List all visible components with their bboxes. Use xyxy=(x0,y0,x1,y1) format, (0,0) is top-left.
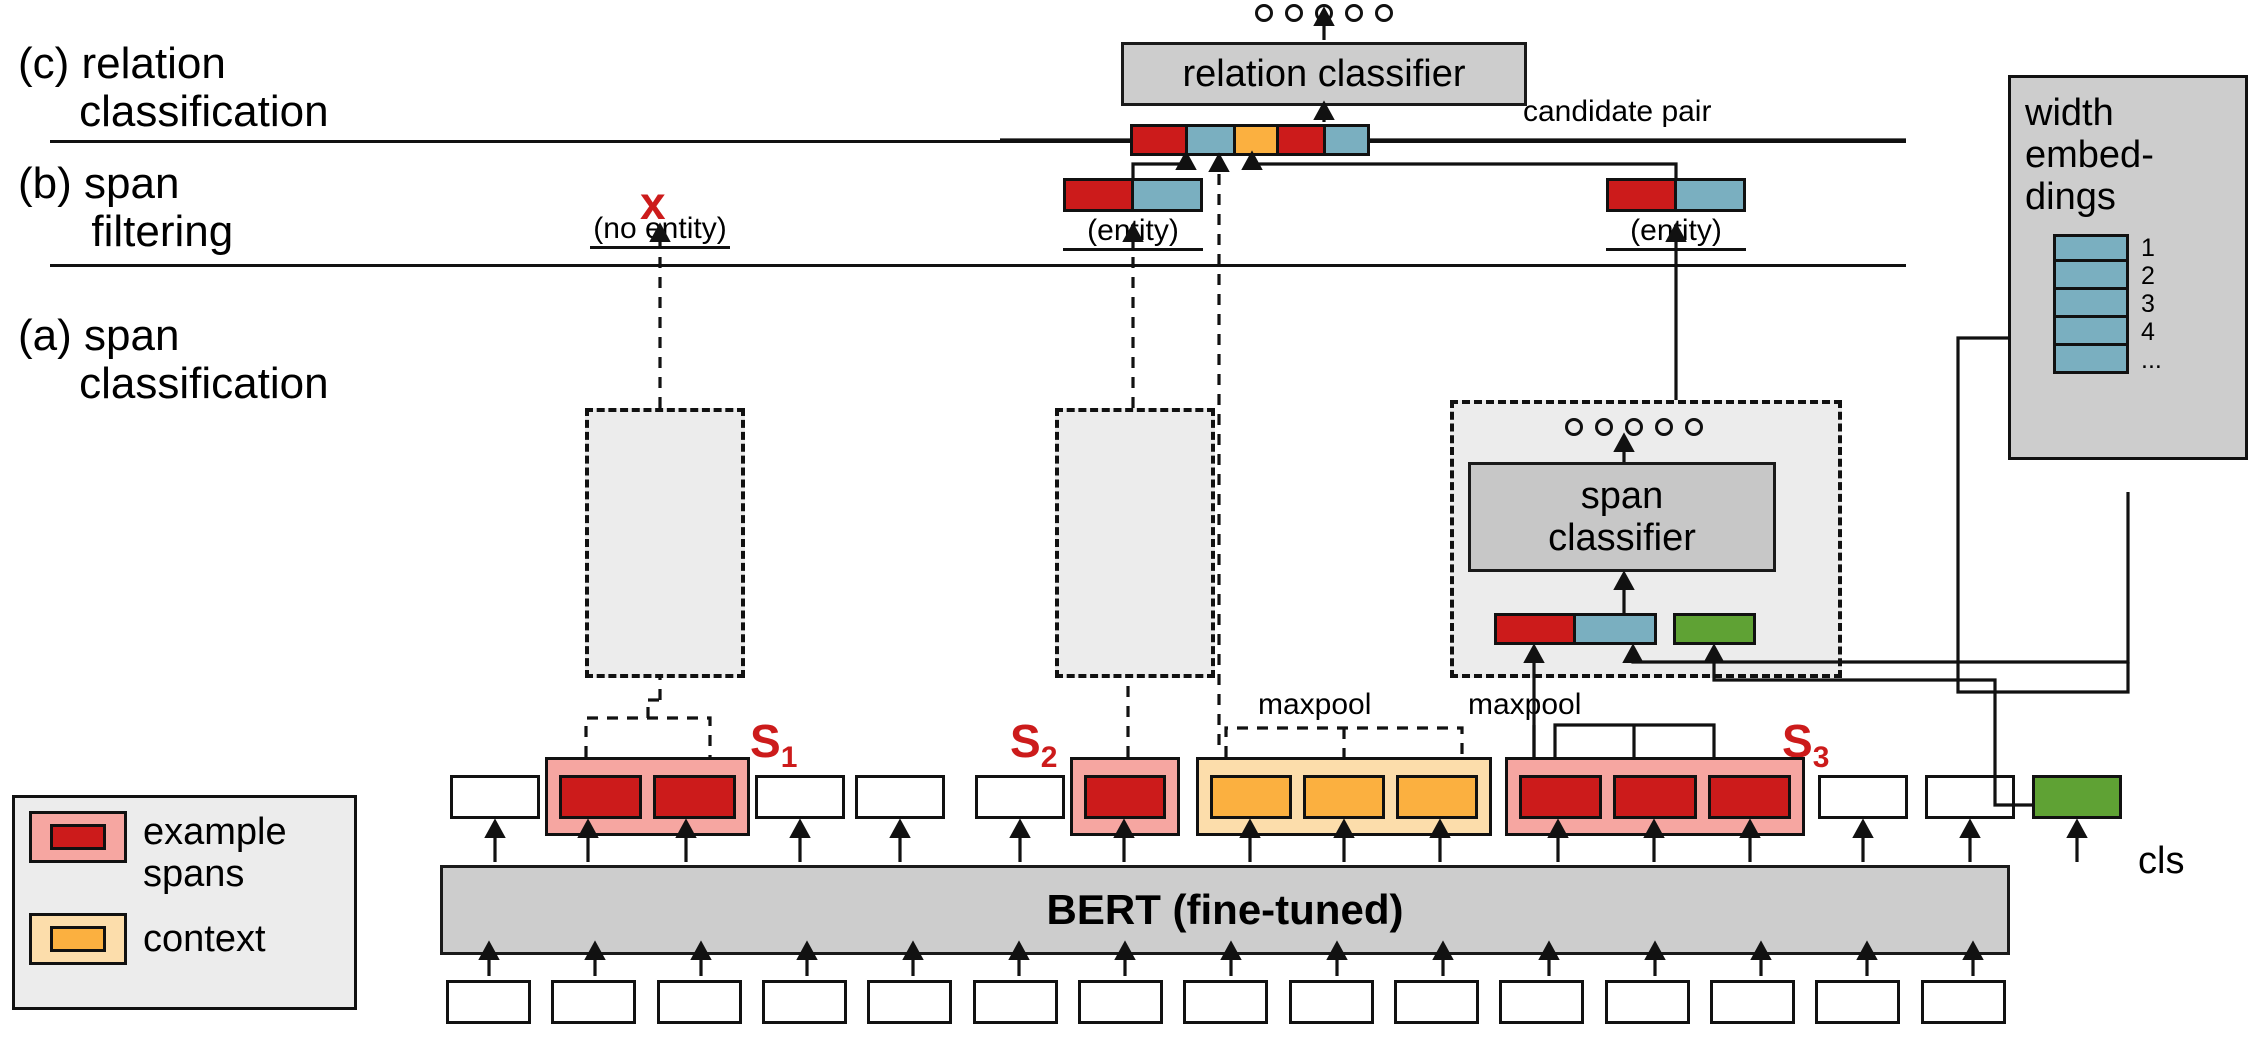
output-circle xyxy=(1345,4,1363,22)
span-input-cell-cls xyxy=(1676,616,1753,642)
bert-encoder-box[interactable]: BERT (fine-tuned) xyxy=(440,865,2010,955)
span-label-s2: S2 xyxy=(1010,718,1057,781)
legend-swatch-context xyxy=(29,913,127,965)
legend-label-example-spans-line1: example xyxy=(143,811,287,853)
span-classifier-box[interactable]: span classifier xyxy=(1468,462,1776,572)
token-lower-13[interactable] xyxy=(1710,980,1795,1024)
legend-box: example spans context xyxy=(12,795,357,1010)
candidate-pair-vector[interactable] xyxy=(1130,124,1370,156)
span-label-s1: S1 xyxy=(750,718,797,781)
token-lower-2[interactable] xyxy=(551,980,636,1024)
width-embeddings-title-line2: embed- xyxy=(2025,134,2245,176)
width-embeddings-title-line3: dings xyxy=(2025,176,2245,218)
collapsed-span-classifier-1[interactable] xyxy=(585,408,745,678)
width-embedding-index: 1 xyxy=(2141,234,2162,262)
bert-label: BERT (fine-tuned) xyxy=(1047,886,1404,934)
token-lower-7[interactable] xyxy=(1078,980,1163,1024)
token-lower-6[interactable] xyxy=(973,980,1058,1024)
width-embedding-cell[interactable] xyxy=(2053,234,2129,262)
divider-relation-span xyxy=(50,140,1906,143)
candidate-pair-cell-tail-width xyxy=(1326,127,1367,153)
token-row-lower xyxy=(446,980,2006,1024)
output-circle xyxy=(1375,4,1393,22)
token-upper-6[interactable] xyxy=(975,775,1065,819)
legend-swatch-inner-red xyxy=(50,824,106,850)
width-embedding-index: ... xyxy=(2141,346,2162,374)
token-lower-9[interactable] xyxy=(1289,980,1374,1024)
token-lower-4[interactable] xyxy=(762,980,847,1024)
token-lower-3[interactable] xyxy=(657,980,742,1024)
token-upper-15[interactable] xyxy=(1925,775,2015,819)
connector-entity-right-to-candpair xyxy=(1252,160,1676,178)
span-label-s1-text: S xyxy=(750,715,781,767)
width-embeddings-panel[interactable]: width embed- dings 1 2 3 4 ... xyxy=(2008,75,2248,460)
maxpool-context-label: maxpool xyxy=(1258,688,1371,722)
width-embedding-cell[interactable] xyxy=(2053,262,2129,290)
legend-swatch-inner-orange xyxy=(50,926,106,952)
span-output-circles xyxy=(1565,418,1703,436)
candidate-pair-cell-context xyxy=(1236,127,1279,153)
output-circle xyxy=(1625,418,1643,436)
connector-entity-left-to-candpair xyxy=(1133,160,1186,178)
no-entity-label: (no entity) xyxy=(590,212,730,249)
token-lower-11[interactable] xyxy=(1499,980,1584,1024)
width-embedding-index: 3 xyxy=(2141,290,2162,318)
output-circle xyxy=(1315,4,1333,22)
connector-s1-bracket xyxy=(586,718,710,757)
width-embeddings-index-labels: 1 2 3 4 ... xyxy=(2141,234,2162,374)
token-upper-10[interactable] xyxy=(1396,775,1478,819)
span-group-s1[interactable] xyxy=(545,757,750,836)
token-upper-4[interactable] xyxy=(755,775,845,819)
token-upper-7[interactable] xyxy=(1084,775,1166,819)
span-classifier-label-line1: span xyxy=(1581,475,1663,517)
connector-context-maxpool-bracket xyxy=(1226,728,1462,757)
output-circle xyxy=(1565,418,1583,436)
entity-right-label: (entity) xyxy=(1606,214,1746,251)
entity-right-cell-span xyxy=(1609,181,1677,209)
width-embeddings-title-line1: width xyxy=(2025,92,2245,134)
span-group-s3[interactable] xyxy=(1505,757,1805,836)
candidate-pair-label: candidate pair xyxy=(1523,95,1711,129)
legend-item-context: context xyxy=(15,895,354,965)
token-upper-3[interactable] xyxy=(653,775,736,819)
token-lower-15[interactable] xyxy=(1921,980,2006,1024)
span-input-cell-span xyxy=(1497,616,1576,642)
divider-span-filtering-classification xyxy=(50,264,1906,267)
cls-label: cls xyxy=(2138,840,2184,882)
output-circle xyxy=(1285,4,1303,22)
token-lower-1[interactable] xyxy=(446,980,531,1024)
candidate-pair-cell-head-width xyxy=(1188,127,1237,153)
token-lower-10[interactable] xyxy=(1394,980,1479,1024)
token-upper-2[interactable] xyxy=(559,775,642,819)
span-input-cell-width xyxy=(1576,616,1654,642)
maxpool-span-label: maxpool xyxy=(1468,688,1581,722)
output-circle xyxy=(1655,418,1673,436)
width-embedding-index: 2 xyxy=(2141,262,2162,290)
output-circle xyxy=(1595,418,1613,436)
section-label-span-classification: (a) span classification xyxy=(18,312,329,408)
width-embedding-cell[interactable] xyxy=(2053,318,2129,346)
token-lower-14[interactable] xyxy=(1815,980,1900,1024)
token-upper-13[interactable] xyxy=(1708,775,1791,819)
relation-classifier-label: relation classifier xyxy=(1183,53,1466,95)
relation-output-circles xyxy=(1255,4,1393,22)
output-circle xyxy=(1685,418,1703,436)
token-upper-11[interactable] xyxy=(1519,775,1602,819)
token-cls[interactable] xyxy=(2032,775,2122,819)
span-classifier-input-vector[interactable] xyxy=(1494,613,1657,645)
collapsed-span-classifier-2[interactable] xyxy=(1055,408,1215,678)
span-label-s2-text: S xyxy=(1010,715,1041,767)
span-label-s1-sub: 1 xyxy=(781,741,798,774)
connector-s3-maxpool-bracket xyxy=(1555,725,1714,757)
span-label-s2-sub: 2 xyxy=(1041,741,1058,774)
entity-left-cell-span xyxy=(1066,181,1134,209)
width-embedding-cell[interactable] xyxy=(2053,346,2129,374)
entity-vector-right[interactable] xyxy=(1606,178,1746,212)
entity-left-cell-width xyxy=(1134,181,1200,209)
legend-label-context: context xyxy=(143,918,266,960)
token-lower-8[interactable] xyxy=(1183,980,1268,1024)
candidate-pair-cell-tail-span xyxy=(1279,127,1326,153)
token-lower-12[interactable] xyxy=(1605,980,1690,1024)
token-upper-5[interactable] xyxy=(855,775,945,819)
entity-left-label: (entity) xyxy=(1063,214,1203,251)
span-classifier-input-cls[interactable] xyxy=(1673,613,1756,645)
section-label-span-filtering: (b) span filtering xyxy=(18,160,233,256)
candidate-pair-cell-head-span xyxy=(1133,127,1188,153)
relation-classifier-box[interactable]: relation classifier xyxy=(1121,42,1527,106)
section-label-relation-classification: (c) relation classification xyxy=(18,40,329,136)
legend-swatch-example-spans xyxy=(29,811,127,863)
output-circle xyxy=(1255,4,1273,22)
width-embedding-cell[interactable] xyxy=(2053,290,2129,318)
token-lower-5[interactable] xyxy=(867,980,952,1024)
token-upper-8[interactable] xyxy=(1210,775,1292,819)
span-classifier-label-line2: classifier xyxy=(1548,517,1696,559)
legend-label-example-spans-line2: spans xyxy=(143,853,287,895)
legend-item-example-spans: example spans xyxy=(15,798,354,895)
token-upper-14[interactable] xyxy=(1818,775,1908,819)
token-upper-9[interactable] xyxy=(1303,775,1385,819)
token-upper-12[interactable] xyxy=(1613,775,1696,819)
entity-right-cell-width xyxy=(1677,181,1743,209)
width-embeddings-cells xyxy=(2053,234,2129,374)
width-embedding-index: 4 xyxy=(2141,318,2162,346)
entity-vector-left[interactable] xyxy=(1063,178,1203,212)
span-label-s3-sub: 3 xyxy=(1813,741,1830,774)
token-upper-1[interactable] xyxy=(450,775,540,819)
context-group[interactable] xyxy=(1196,757,1492,836)
span-group-s2[interactable] xyxy=(1070,757,1180,836)
